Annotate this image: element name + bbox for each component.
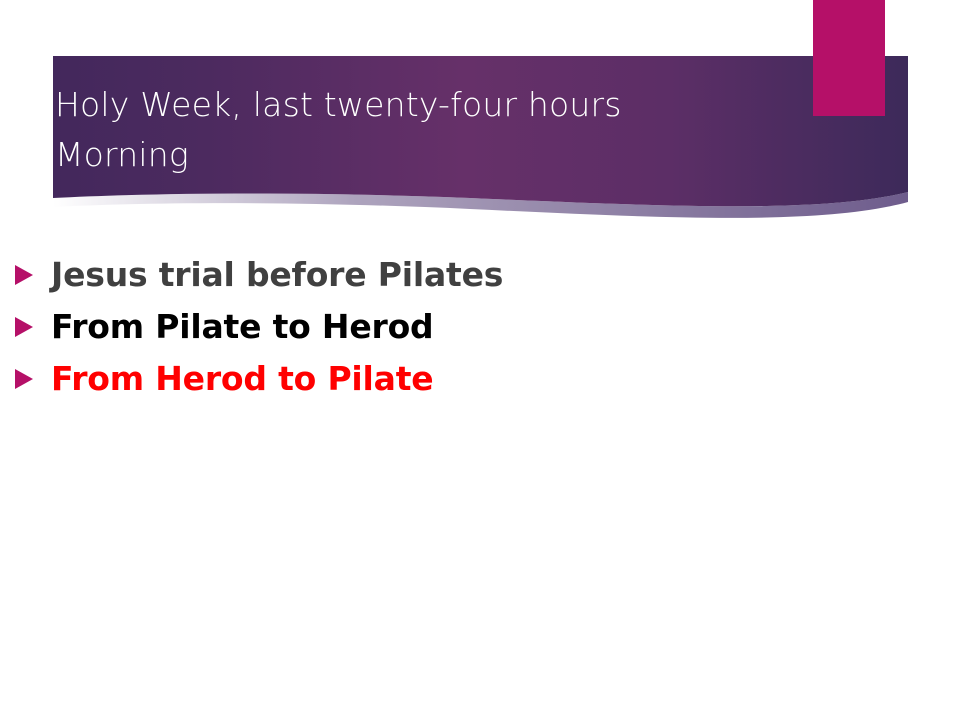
slide-canvas: Holy Week, last twenty-four hours Mornin… — [0, 0, 960, 720]
list-item[interactable]: Jesus trial before Pilates — [0, 249, 960, 301]
list-item-label: From Pilate to Herod — [51, 309, 433, 345]
triangle-right-icon — [14, 262, 36, 288]
title-banner: Holy Week, last twenty-four hours Mornin… — [0, 0, 960, 240]
bullet-list: Jesus trial before Pilates From Pilate t… — [0, 249, 960, 405]
list-item[interactable]: From Herod to Pilate — [0, 353, 960, 405]
list-item-label: Jesus trial before Pilates — [51, 257, 503, 293]
list-item[interactable]: From Pilate to Herod — [0, 301, 960, 353]
slide-title: Holy Week, last twenty-four hours Mornin… — [55, 80, 795, 180]
triangle-right-icon — [14, 314, 36, 340]
list-item-label: From Herod to Pilate — [51, 361, 433, 397]
triangle-right-icon — [14, 366, 36, 392]
